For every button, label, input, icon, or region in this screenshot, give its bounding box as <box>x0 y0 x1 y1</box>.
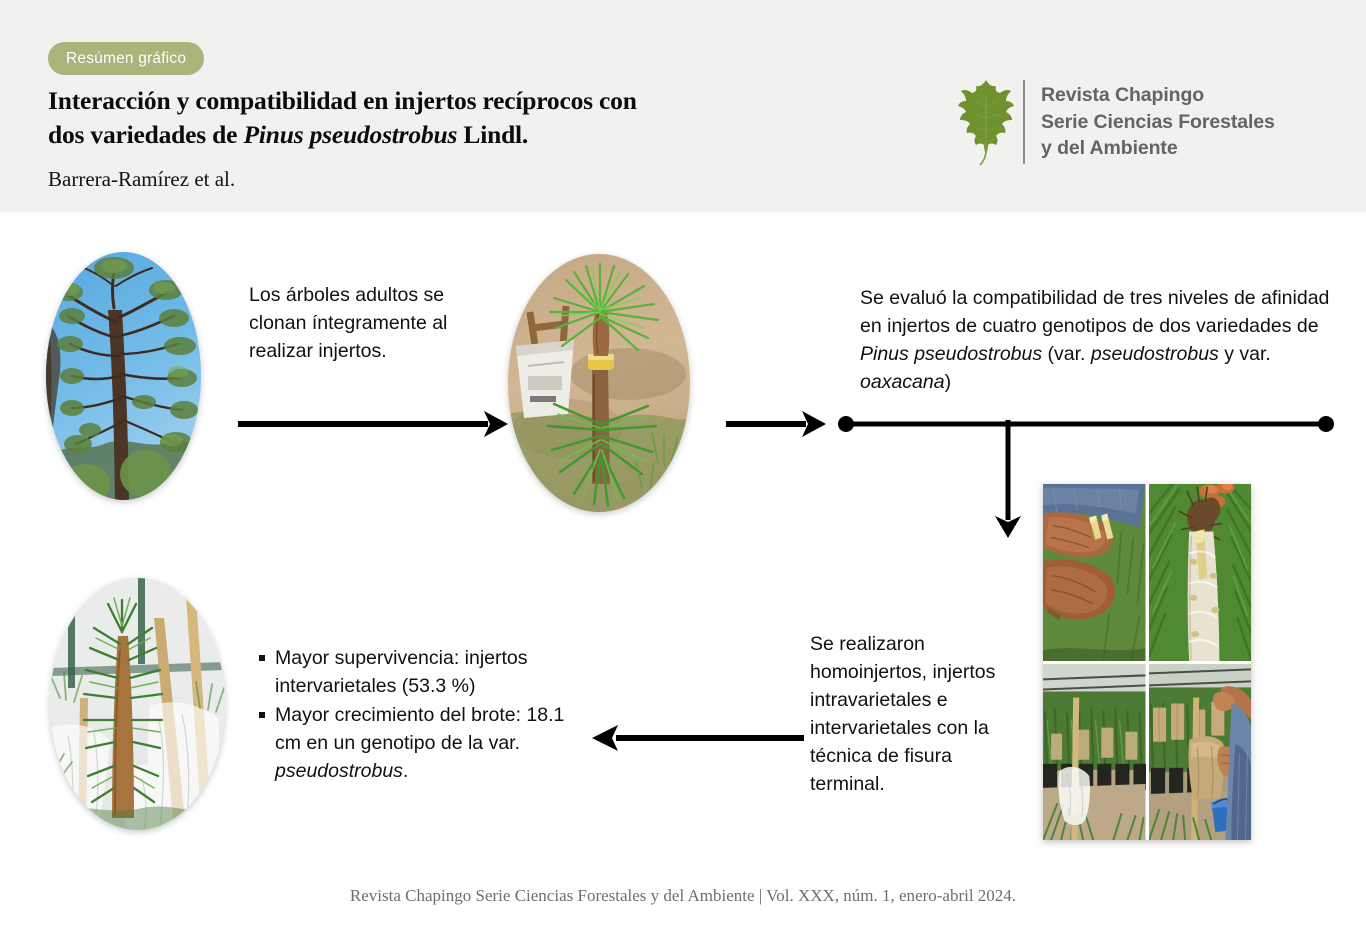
result-bullet-2-variety: pseudostrobus <box>275 760 403 782</box>
adult-pine-tree-photo <box>46 252 201 500</box>
badge-label: Resúmen gráfico <box>66 50 186 68</box>
title-species-name: Pinus pseudostrobus <box>243 120 457 149</box>
title-line-2-suffix: Lindl. <box>457 120 528 149</box>
journal-name-line-2: Serie Ciencias Forestales <box>1041 109 1275 136</box>
journal-name-line-1: Revista Chapingo <box>1041 82 1275 109</box>
grafting-technique-photo-grid <box>1043 484 1251 840</box>
grafted-shoot-in-nursery-photo <box>50 578 225 830</box>
title-line-1: Interacción y compatibilidad en injertos… <box>48 86 637 115</box>
result-bullet-2-prefix: Mayor crecimiento del brote: 18.1 cm en … <box>275 704 564 754</box>
eval-variety-2: oaxacana <box>860 371 945 393</box>
footer-citation: Revista Chapingo Serie Ciencias Forestal… <box>0 886 1366 906</box>
nursery-plants-plastic-bag-photo <box>1043 664 1146 841</box>
arrow-down <box>988 420 1028 538</box>
graphical-abstract-page: Resúmen gráfico Interacción y compatibil… <box>0 0 1366 933</box>
journal-logo: Revista Chapingo Serie Ciencias Forestal… <box>955 72 1325 172</box>
arrow-right <box>726 404 826 444</box>
eval-variety-1: pseudostrobus <box>1091 343 1219 365</box>
hands-holding-scions-photo <box>1043 484 1146 661</box>
journal-name: Revista Chapingo Serie Ciencias Forestal… <box>1041 82 1275 162</box>
logo-divider <box>1023 80 1025 164</box>
technique-step-text: Se realizaron homoinjertos, injertos int… <box>810 630 1025 798</box>
dotted-end-connector-line <box>838 404 1334 444</box>
eval-text-mid: (var. <box>1042 343 1091 365</box>
resumen-grafico-badge: Resúmen gráfico <box>48 42 204 75</box>
eval-species-name: Pinus pseudostrobus <box>860 343 1042 365</box>
eval-text-mid-2: y var. <box>1219 343 1271 365</box>
worker-placing-paper-bag-photo <box>1149 664 1252 841</box>
clone-step-text: Los árboles adultos se clonan íntegramen… <box>249 281 489 365</box>
header-band: Resúmen gráfico Interacción y compatibil… <box>0 0 1366 212</box>
page-title: Interacción y compatibilidad en injertos… <box>48 84 848 152</box>
grafted-pine-seedling-photo <box>508 254 690 512</box>
arrow-right <box>238 404 508 444</box>
arrow-left <box>592 718 804 758</box>
results-list: Mayor supervivencia: injertos intervarie… <box>258 644 578 786</box>
authors-line: Barrera-Ramírez et al. <box>48 167 235 192</box>
evaluation-step-text: Se evaluó la compatibilidad de tres nive… <box>860 284 1330 396</box>
eval-text-suffix: ) <box>945 371 952 393</box>
list-item: Mayor crecimiento del brote: 18.1 cm en … <box>258 701 578 785</box>
title-line-2-prefix: dos variedades de <box>48 120 243 149</box>
grafted-stem-closeup-photo <box>1149 484 1252 661</box>
oak-leaf-icon <box>955 76 1017 168</box>
journal-name-line-3: y del Ambiente <box>1041 135 1275 162</box>
result-bullet-2-suffix: . <box>403 760 408 782</box>
eval-text-prefix: Se evaluó la compatibilidad de tres nive… <box>860 287 1329 337</box>
result-bullet-1-text: Mayor supervivencia: injertos intervarie… <box>275 647 528 697</box>
list-item: Mayor supervivencia: injertos intervarie… <box>258 644 578 700</box>
